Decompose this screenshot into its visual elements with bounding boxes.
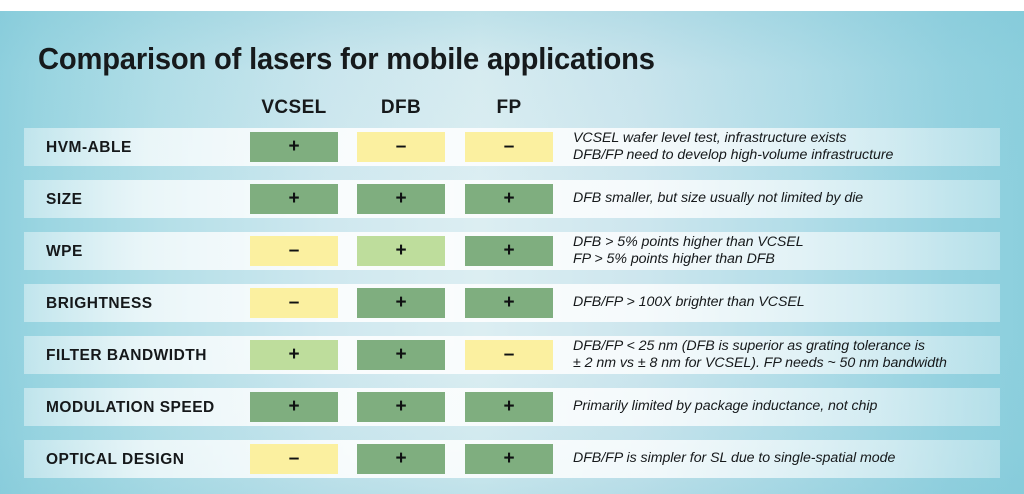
rating-cell-vcsel: + <box>250 340 338 370</box>
rating-cell-dfb: – <box>357 132 445 162</box>
row-label: OPTICAL DESIGN <box>46 451 246 469</box>
rating-cell-vcsel: – <box>250 288 338 318</box>
slide-canvas: Comparison of lasers for mobile applicat… <box>0 0 1024 494</box>
row-label: HVM-ABLE <box>46 139 246 157</box>
rating-cell-fp: + <box>465 236 553 266</box>
rating-cell-fp: + <box>465 184 553 214</box>
row-label: SIZE <box>46 191 246 209</box>
rating-cell-vcsel: – <box>250 444 338 474</box>
comparison-panel: Comparison of lasers for mobile applicat… <box>0 11 1024 494</box>
row-label: FILTER BANDWIDTH <box>46 347 246 365</box>
row-note: DFB/FP > 100X brighter than VCSEL <box>573 294 1013 311</box>
rating-cell-vcsel: + <box>250 132 338 162</box>
rating-cell-fp: – <box>465 340 553 370</box>
rating-cell-dfb: + <box>357 444 445 474</box>
rating-cell-fp: – <box>465 132 553 162</box>
row-note: DFB/FP is simpler for SL due to single-s… <box>573 450 1013 467</box>
column-header-fp: FP <box>465 97 553 119</box>
rating-cell-fp: + <box>465 392 553 422</box>
rating-cell-vcsel: – <box>250 236 338 266</box>
column-header-vcsel: VCSEL <box>250 97 338 119</box>
row-label: BRIGHTNESS <box>46 295 246 313</box>
row-note: DFB > 5% points higher than VCSEL FP > 5… <box>573 234 1013 268</box>
rating-cell-fp: + <box>465 444 553 474</box>
rating-cell-fp: + <box>465 288 553 318</box>
rating-cell-dfb: + <box>357 340 445 370</box>
rating-cell-vcsel: + <box>250 184 338 214</box>
row-label: WPE <box>46 243 246 261</box>
row-label: MODULATION SPEED <box>46 399 246 417</box>
column-header-dfb: DFB <box>357 97 445 119</box>
rating-cell-vcsel: + <box>250 392 338 422</box>
rating-cell-dfb: + <box>357 184 445 214</box>
row-note: VCSEL wafer level test, infrastructure e… <box>573 130 1013 164</box>
rating-cell-dfb: + <box>357 392 445 422</box>
rating-cell-dfb: + <box>357 236 445 266</box>
row-note: DFB smaller, but size usually not limite… <box>573 190 1013 207</box>
rating-cell-dfb: + <box>357 288 445 318</box>
row-note: Primarily limited by package inductance,… <box>573 398 1013 415</box>
row-note: DFB/FP < 25 nm (DFB is superior as grati… <box>573 338 1013 372</box>
page-title: Comparison of lasers for mobile applicat… <box>38 41 655 77</box>
